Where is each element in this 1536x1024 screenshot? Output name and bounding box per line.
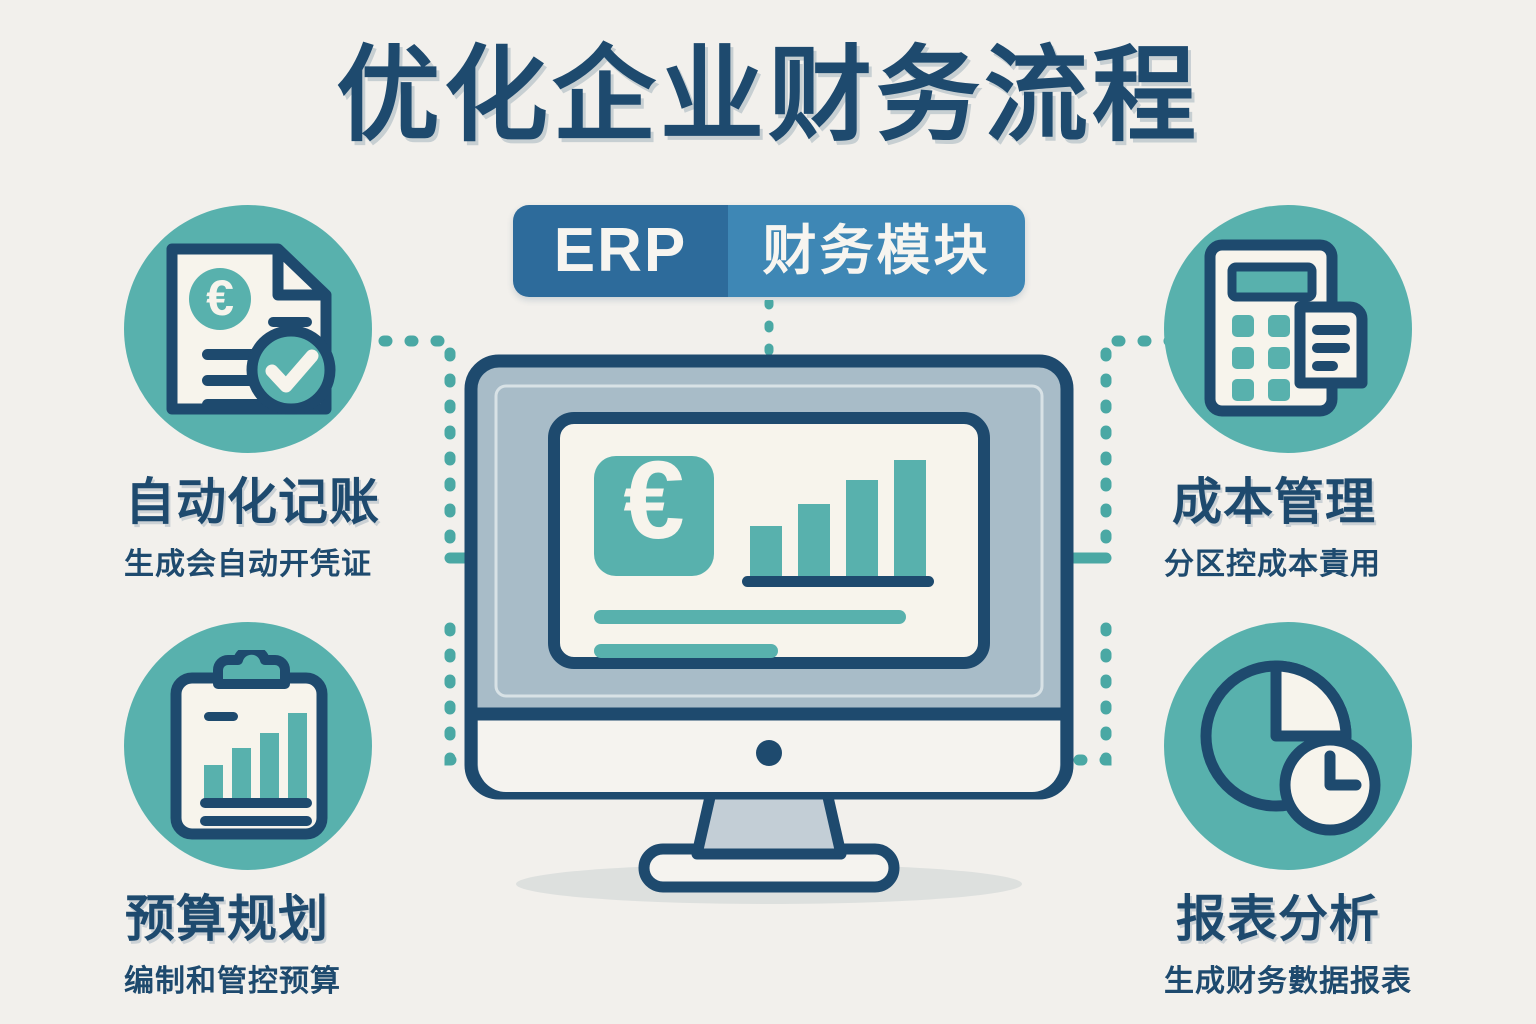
connector-badge-to-monitor: [758, 300, 780, 360]
clipboard-bar-chart-icon: [166, 650, 332, 842]
erp-module-badge: ERP 财务模块: [513, 205, 1025, 297]
feature-title-auto-accounting: 自动化记账: [125, 477, 380, 527]
calculator-document-icon: [1200, 235, 1382, 421]
screen-bar-3: [846, 480, 878, 576]
monitor-svg: €: [462, 352, 1076, 908]
feature-title-report-analysis: 报表分析: [1176, 894, 1380, 944]
document-euro-check-icon: €: [158, 237, 340, 423]
feature-subtitle-cost-management: 分区控成本責用: [1164, 550, 1381, 580]
feature-cost-management[interactable]: 成本管理 分区控成本責用: [1164, 205, 1536, 605]
screen-text-line-2: [594, 644, 778, 658]
monitor-power-indicator: [756, 740, 782, 766]
screen-bar-4: [894, 460, 926, 576]
page-title: 优化企业财务流程: [0, 38, 1536, 154]
screen-bar-1: [750, 526, 782, 576]
connector-report-analysis: [1058, 620, 1178, 780]
feature-subtitle-report-analysis: 生成财务數据报表: [1164, 967, 1412, 997]
desktop-monitor-illustration: €: [462, 352, 1076, 908]
screen-euro-glyph: €: [623, 439, 684, 562]
screen-text-line-1: [594, 610, 906, 624]
feature-subtitle-budget-planning: 编制和管控预算: [124, 967, 341, 997]
badge-segment-finance-module: 财务模块: [728, 205, 1025, 297]
connector-cost-management: [1058, 325, 1178, 565]
svg-text:€: €: [206, 270, 234, 326]
screen-bar-baseline: [742, 576, 934, 587]
badge-segment-erp: ERP: [513, 205, 728, 297]
feature-title-budget-planning: 预算规划: [125, 894, 329, 944]
feature-title-cost-management: 成本管理: [1172, 477, 1376, 527]
badge-label-erp: ERP: [554, 220, 687, 282]
pie-chart-clock-icon: [1190, 650, 1386, 842]
screen-bar-2: [798, 504, 830, 576]
badge-label-finance-module: 财务模块: [763, 224, 991, 278]
infographic-canvas: 优化企业财务流程 ERP 财务模块: [0, 0, 1536, 1024]
feature-subtitle-auto-accounting: 生成会自动开凭证: [124, 550, 372, 580]
feature-report-analysis[interactable]: 报表分析 生成财务數据报表: [1164, 622, 1536, 1022]
